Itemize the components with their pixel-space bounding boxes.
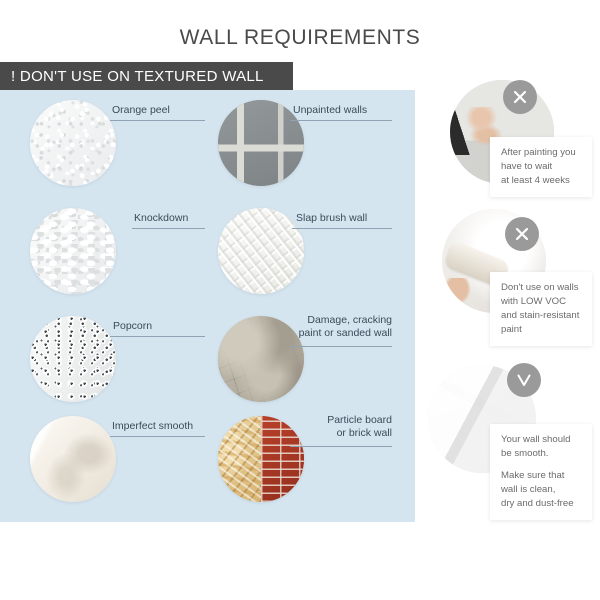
cross-icon (503, 80, 537, 114)
texture-surface (218, 208, 304, 294)
texture-surface (30, 416, 116, 502)
texture-thumbnail (218, 316, 304, 402)
texture-surface (218, 316, 304, 402)
tip-text-box: After painting youhave to waitat least 4… (490, 137, 592, 197)
texture-label: Unpainted walls (293, 104, 367, 117)
texture-label-line: Unpainted walls (293, 104, 367, 117)
tip-text-line: at least 4 weeks (501, 174, 582, 188)
texture-item (218, 100, 304, 186)
tip-text-line: Make sure that (501, 469, 582, 483)
hands-on-wall-photo (450, 80, 554, 184)
tip-text-line: with LOW VOC (501, 295, 582, 309)
texture-thumbnail (30, 416, 116, 502)
page-title: WALL REQUIREMENTS (0, 26, 600, 50)
texture-label-rule (110, 120, 205, 121)
texture-thumbnail (30, 100, 116, 186)
photo-fill (442, 209, 546, 313)
tip-text-line: wall is clean, (501, 483, 582, 497)
warning-banner-label: ! DON'T USE ON TEXTURED WALL (11, 68, 264, 85)
texture-label-line: Slap brush wall (296, 212, 367, 225)
cross-icon (505, 217, 539, 251)
osb-half (218, 416, 261, 502)
smooth-wall-photo (428, 365, 536, 473)
poster-root: WALL REQUIREMENTS ! DON'T USE ON TEXTURE… (0, 0, 600, 600)
tip-text-line: After painting you (501, 146, 582, 160)
tip-text-line: Don't use on walls (501, 281, 582, 295)
texture-item (30, 100, 116, 186)
texture-label-rule (110, 336, 205, 337)
texture-label: Knockdown (134, 212, 188, 225)
brick-half (261, 416, 304, 502)
check-icon (507, 363, 541, 397)
texture-label-line: Orange peel (112, 104, 170, 117)
texture-label-rule (290, 346, 392, 347)
texture-label-line: Imperfect smooth (112, 420, 193, 433)
texture-label: Damage, crackingpaint or sanded wall (299, 314, 392, 339)
texture-label-rule (132, 228, 205, 229)
tip-text-line: paint (501, 323, 582, 337)
texture-thumbnail (30, 316, 116, 402)
paint-roller-photo (442, 209, 546, 313)
tip-text-line: have to wait (501, 160, 582, 174)
texture-item (218, 316, 304, 402)
texture-grid: Orange peelUnpainted wallsKnockdownSlap … (0, 90, 415, 522)
texture-label-rule (290, 120, 392, 121)
photo-fill (450, 80, 554, 184)
texture-label-line: Popcorn (113, 320, 152, 333)
texture-surface (30, 208, 116, 294)
texture-label-line: or brick wall (327, 427, 392, 440)
texture-label-rule (292, 228, 392, 229)
texture-label: Particle boardor brick wall (327, 414, 392, 439)
tip-paragraph: Your wall shouldbe smooth. (501, 433, 582, 461)
tip-paragraph: Make sure thatwall is clean,dry and dust… (501, 469, 582, 511)
textured-wall-panel: Orange peelUnpainted wallsKnockdownSlap … (0, 90, 415, 522)
tip-text-line: be smooth. (501, 447, 582, 461)
texture-thumbnail (218, 100, 304, 186)
texture-item (218, 416, 304, 502)
texture-thumbnail (218, 416, 304, 502)
texture-surface (30, 100, 116, 186)
tip-text-box: Your wall shouldbe smooth.Make sure that… (490, 424, 592, 520)
texture-label-line: Knockdown (134, 212, 188, 225)
texture-thumbnail (30, 208, 116, 294)
texture-label-line: paint or sanded wall (299, 327, 392, 340)
texture-thumbnail (218, 208, 304, 294)
tip-paragraph: Don't use on wallswith LOW VOCand stain-… (501, 281, 582, 337)
tip-text-line: dry and dust-free (501, 497, 582, 511)
tip-text-line: Your wall should (501, 433, 582, 447)
tip-text-line: and stain-resistant (501, 309, 582, 323)
texture-label: Popcorn (113, 320, 152, 333)
texture-item (218, 208, 304, 294)
texture-surface (218, 100, 304, 186)
warning-banner: ! DON'T USE ON TEXTURED WALL (0, 62, 293, 91)
photo-fill (428, 365, 536, 473)
texture-label-line: Damage, cracking (299, 314, 392, 327)
texture-item (30, 208, 116, 294)
texture-item (30, 416, 116, 502)
texture-label: Orange peel (112, 104, 170, 117)
texture-label-rule (110, 436, 205, 437)
texture-item (30, 316, 116, 402)
texture-label-rule (290, 446, 392, 447)
texture-label: Slap brush wall (296, 212, 367, 225)
tip-paragraph: After painting youhave to waitat least 4… (501, 146, 582, 188)
tip-text-box: Don't use on wallswith LOW VOCand stain-… (490, 272, 592, 346)
texture-label: Imperfect smooth (112, 420, 193, 433)
texture-surface (30, 316, 116, 402)
texture-label-line: Particle board (327, 414, 392, 427)
texture-surface-split (218, 416, 304, 502)
